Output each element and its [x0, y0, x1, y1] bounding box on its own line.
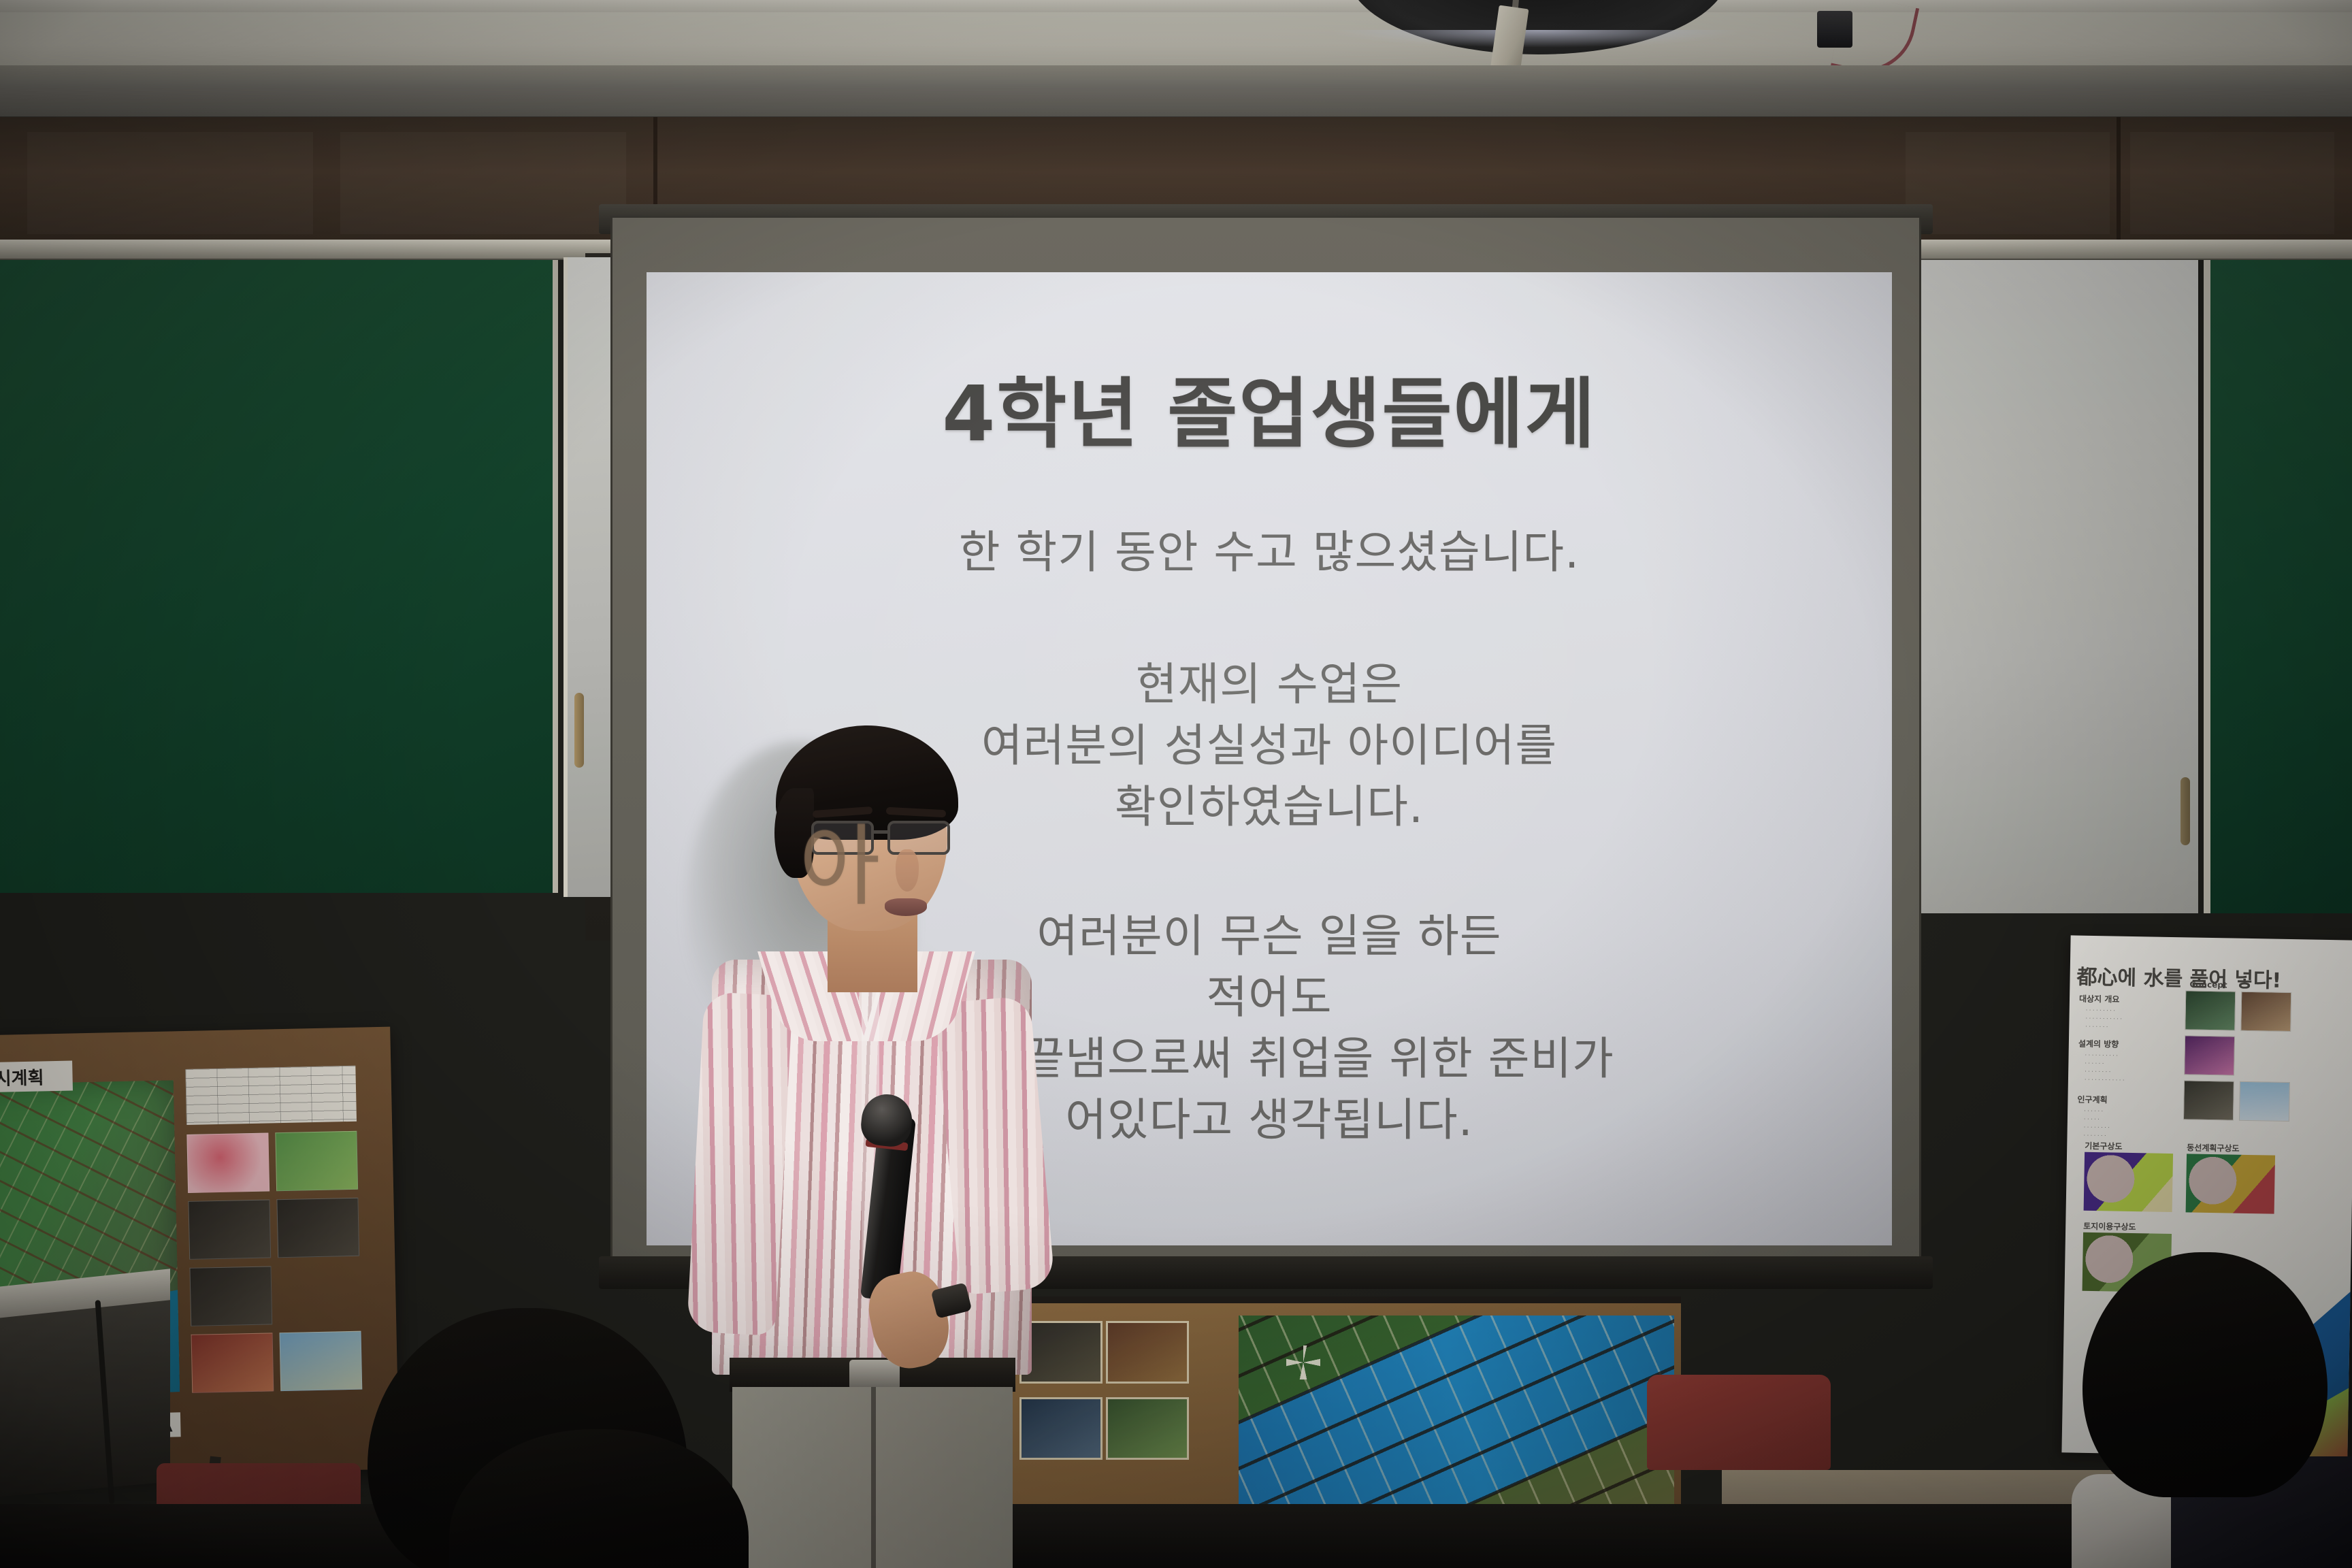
poster-section-heading: 기본구상도: [2085, 1140, 2122, 1152]
cabinet-panel: [27, 132, 313, 234]
presenter-left-arm: [687, 992, 793, 1336]
cabinet-seam: [2117, 117, 2121, 253]
cabinet-panel: [1906, 132, 2110, 234]
presenter-nose: [896, 849, 919, 892]
panel-thumbnail-column: [185, 1065, 382, 1401]
panel-thumb: [188, 1199, 271, 1259]
presenter: 아: [667, 735, 1089, 1568]
poster-section-heading: 대상지 개요: [2079, 993, 2120, 1005]
chalkboard-left: [0, 260, 558, 893]
belt-buckle: [849, 1360, 900, 1390]
compass-rose-icon: [1286, 1345, 1320, 1379]
poster-diagram: [2186, 1154, 2275, 1213]
presenter-mouth: [885, 898, 927, 916]
panel-data-table: [185, 1066, 357, 1125]
poster-photo: [2184, 1035, 2235, 1075]
panel-thumb: [275, 1131, 358, 1191]
glasses-lens: [887, 821, 950, 855]
slide-line-1: 한 학기 동안 수고 많으셨습니다.: [647, 521, 1892, 583]
panel-thumb-row: [191, 1330, 383, 1393]
slide-title: 4학년 졸업생들에게: [647, 353, 1892, 463]
panel-thumb-row: [189, 1264, 381, 1326]
chair-right[interactable]: [1647, 1375, 1831, 1470]
board-handle[interactable]: [2180, 777, 2190, 845]
ceiling-beam: [0, 65, 2352, 118]
panel-thumb: [276, 1198, 359, 1258]
panel-thumb: [191, 1333, 274, 1392]
poster-section-heading: Concept: [2189, 979, 2227, 990]
panel-thumb-row: [186, 1130, 378, 1193]
ceiling-strip: [0, 0, 2352, 12]
poster-section-heading: 설계의 방향: [2078, 1038, 2119, 1050]
poster-section-heading: 토지이용구상도: [2083, 1220, 2136, 1232]
poster-section-heading: 동선계획구상도: [2187, 1141, 2240, 1154]
floor: [0, 1504, 2352, 1568]
poster-photo: [2183, 1080, 2234, 1120]
poster-section-heading: 인구계획: [2077, 1094, 2107, 1106]
cabinet-panel: [340, 132, 626, 234]
poster-photo: [2239, 1081, 2290, 1122]
panel-title-label: 도시계획: [0, 1060, 73, 1093]
panel-thumb-row: [188, 1197, 380, 1260]
poster-body-text: · · · · · ·· · · · ·· · · · · · · ·· · ·…: [2083, 1107, 2186, 1142]
corkboard-photo: [1106, 1321, 1189, 1384]
chalkboard-right: [2204, 260, 2352, 913]
lamp-glow: [1327, 30, 1749, 48]
panel-thumb: [189, 1266, 272, 1326]
whiteboard-right[interactable]: [1885, 260, 2198, 913]
poster-photo-grid: [2183, 990, 2349, 1128]
corkboard-photo: [1106, 1397, 1189, 1460]
panel-thumb: [186, 1132, 269, 1192]
board-handle[interactable]: [574, 693, 584, 768]
cabinet-panel: [2130, 132, 2334, 234]
poster-body-text: · · · · · · · · ·· · · · · · · · · · ·· …: [2085, 1007, 2188, 1033]
trouser-seam: [871, 1387, 876, 1568]
board-rail-right: [1878, 240, 2352, 260]
photo-canvas: 4학년 졸업생들에게 한 학기 동안 수고 많으셨습니다. 현재의 수업은 여러…: [0, 0, 2352, 1568]
poster-photo: [2185, 990, 2236, 1030]
panel-thumb: [280, 1331, 363, 1391]
poster-photo: [2240, 992, 2291, 1032]
slide-line-2: 현재의 수업은: [647, 653, 1892, 715]
projected-glyph-on-face: 아: [799, 822, 881, 911]
poster-title: 都心에 水를 풀어 넣다!: [2076, 960, 2281, 994]
poster-body-text: · · · · · · · · · ·· · · · · ·· · · · · …: [2085, 1051, 2187, 1086]
poster-diagram: [2084, 1152, 2173, 1212]
